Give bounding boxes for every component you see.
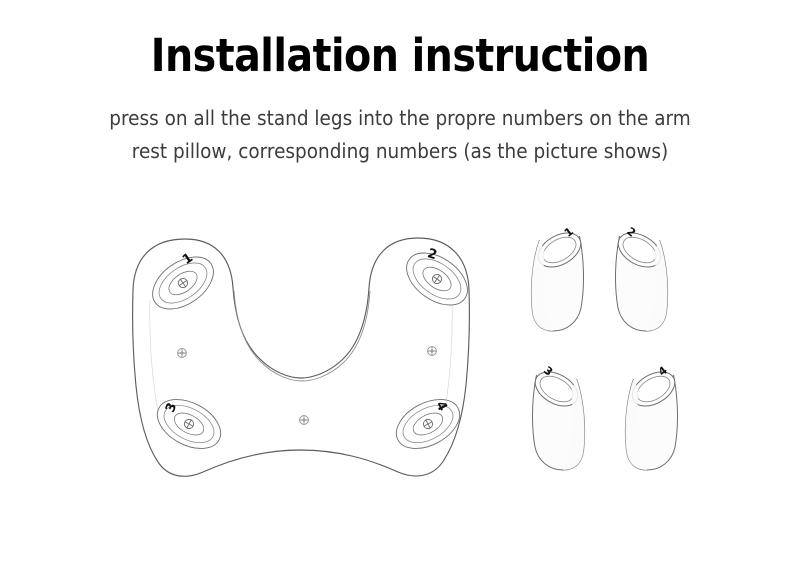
screw-marker-center-icon: [300, 416, 309, 425]
arm-rest-pillow: 1 2 3 4: [133, 238, 477, 476]
screw-marker-left-icon: [178, 349, 187, 358]
stand-leg-3[interactable]: 3: [529, 364, 584, 470]
stand-leg-4[interactable]: 4: [625, 364, 680, 470]
stand-legs-group: 1 2 3 4: [529, 225, 680, 470]
stand-leg-2[interactable]: 2: [612, 225, 667, 331]
instruction-page: Installation instruction press on all th…: [0, 0, 800, 579]
installation-diagram: 1 2 3 4: [0, 0, 800, 579]
stand-leg-1[interactable]: 1: [531, 225, 586, 331]
screw-marker-right-icon: [428, 347, 437, 356]
